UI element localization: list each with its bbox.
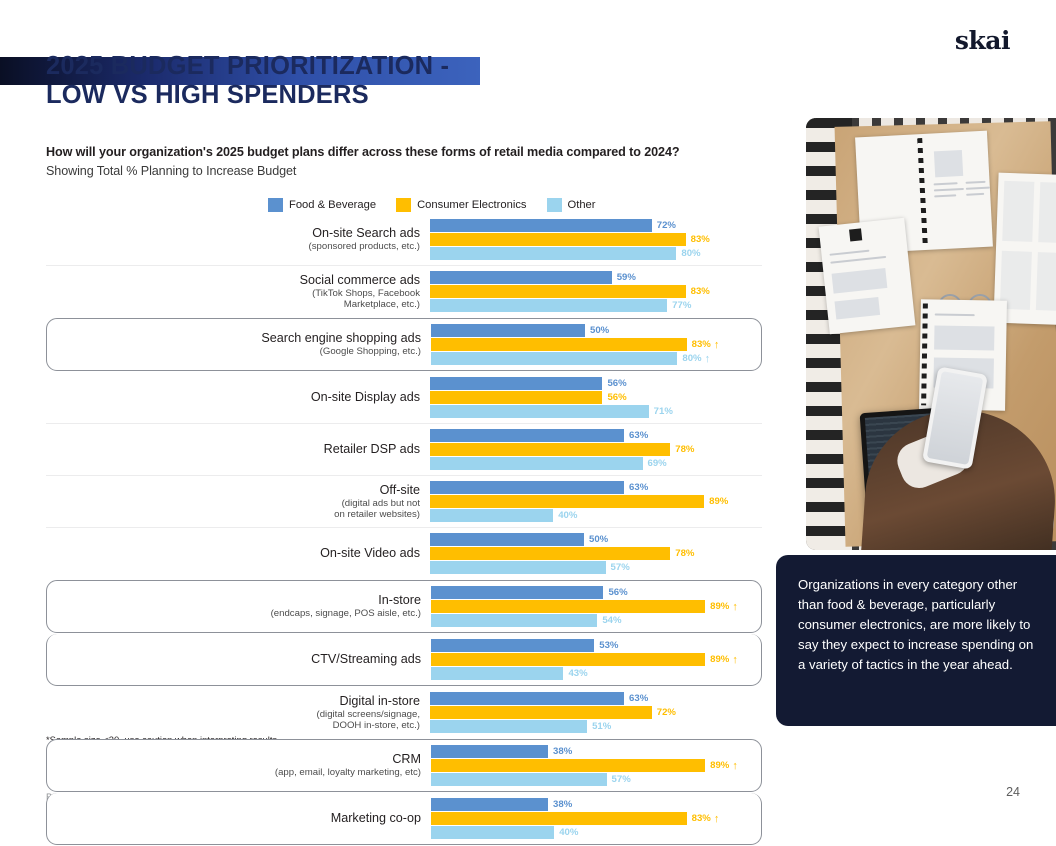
chart-bar <box>430 405 649 418</box>
chart-bar <box>430 533 584 546</box>
doc-block <box>934 325 994 350</box>
chart-bar <box>431 338 687 351</box>
chart-row-label: Search engine shopping ads(Google Shoppi… <box>47 331 431 357</box>
chart-bar <box>430 706 652 719</box>
chart-bar-value: 40% <box>558 510 577 521</box>
chart-bar <box>431 826 554 839</box>
chart-bar-value: 38% <box>553 799 572 810</box>
chart-row: Digital in-store(digital screens/signage… <box>46 687 762 738</box>
chart-bar-value: 69% <box>648 458 667 469</box>
chart-bar-group: 38% <box>431 745 761 758</box>
chart-bar-group: 69% <box>430 457 762 470</box>
chart-bar <box>430 443 670 456</box>
doc-line <box>934 188 964 192</box>
chart-bar-value: 56% <box>608 587 627 598</box>
chart-bar <box>430 720 587 733</box>
significance-arrow-icon: ↑ <box>714 813 720 825</box>
chart-bar-value: 89% <box>710 601 729 612</box>
chart-bar-group: 80%↑ <box>431 352 761 365</box>
chart-bar-group: 50% <box>430 533 762 546</box>
chart-row-label-main: On-site Video ads <box>46 546 420 561</box>
significance-arrow-icon: ↑ <box>732 654 738 666</box>
chart-row-label-main: In-store <box>47 593 421 608</box>
survey-question: How will your organization's 2025 budget… <box>46 145 679 159</box>
chart-bar-value: 72% <box>657 707 676 718</box>
chart-row-label-sub: (endcaps, signage, POS aisle, etc.) <box>47 608 421 619</box>
significance-arrow-icon: ↑ <box>732 760 738 772</box>
chart-bar-group: 53% <box>431 639 761 652</box>
chart-legend: Food & BeverageConsumer ElectronicsOther <box>268 198 596 212</box>
page-number: 24 <box>1006 785 1020 799</box>
chart-bar-value: 89% <box>710 654 729 665</box>
chart-row-label-main: Retailer DSP ads <box>46 442 420 457</box>
chart-row: Off-site(digital ads but not on retailer… <box>46 475 762 527</box>
chart-bar-group: 89%↑ <box>431 759 761 772</box>
chart-row-bars: 59%83%77% <box>430 269 762 314</box>
survey-subquestion: Showing Total % Planning to Increase Bud… <box>46 164 296 178</box>
chart-bar <box>430 271 612 284</box>
chart-bar-group: 56% <box>430 377 762 390</box>
chart-row-label: On-site Video ads <box>46 546 430 561</box>
chart-bar-group: 50% <box>431 324 761 337</box>
chart-bar <box>430 299 667 312</box>
legend-label: Other <box>568 199 596 211</box>
chart-row-label-sub: (sponsored products, etc.) <box>46 241 420 252</box>
chart-row-label: Marketing co-op <box>47 811 431 826</box>
chart-row-bars: 63%78%69% <box>430 427 762 472</box>
doc-line <box>966 193 984 196</box>
legend-label: Food & Beverage <box>289 199 376 211</box>
chart-row-label: CRM(app, email, loyalty marketing, etc) <box>47 752 431 778</box>
chart-row: On-site Display ads56%56%71% <box>46 372 762 423</box>
chart-bar <box>430 692 624 705</box>
chart-bar-group: 72% <box>430 219 762 232</box>
chart-bar <box>430 547 670 560</box>
spiral-binding <box>921 303 928 405</box>
chart-row: Marketing co-op38%83%↑40% <box>46 793 762 845</box>
doc-line <box>829 250 869 256</box>
chart-bar <box>430 391 602 404</box>
chart-bar-value: 83% <box>692 813 711 824</box>
chart-bar-group: 63% <box>430 429 762 442</box>
chart-bar <box>430 429 624 442</box>
doc-line <box>830 256 886 264</box>
chart-row-label-sub: (digital ads but not on retailer website… <box>46 498 420 521</box>
chart-bar <box>431 324 585 337</box>
chart-row: CRM(app, email, loyalty marketing, etc)3… <box>46 739 762 792</box>
chart-row-bars: 56%89%↑54% <box>431 584 761 629</box>
chart-bar-value: 50% <box>590 325 609 336</box>
chart-bar-group: 59% <box>430 271 762 284</box>
chart-bar-group: 83% <box>430 233 762 246</box>
chart-row-bars: 56%56%71% <box>430 375 762 420</box>
chart-bar-group: 77% <box>430 299 762 312</box>
chart-bar <box>431 667 563 680</box>
chart-bar-value: 56% <box>607 378 626 389</box>
chart-bar-value: 83% <box>691 234 710 245</box>
chart-row: Retailer DSP ads63%78%69% <box>46 423 762 475</box>
chart-row: Search engine shopping ads(Google Shoppi… <box>46 318 762 371</box>
chart-bar <box>431 600 705 613</box>
chart-bar-group: 38% <box>431 798 761 811</box>
doc-block <box>834 297 880 320</box>
legend-swatch-icon <box>547 198 562 212</box>
chart-bar-value: 56% <box>607 392 626 403</box>
chart-bar <box>430 285 686 298</box>
chart-bar-group: 51% <box>430 720 762 733</box>
chart-bar-group: 78% <box>430 547 762 560</box>
chart-row-label: Off-site(digital ads but not on retailer… <box>46 483 430 520</box>
chart-bar-value: 80% <box>681 248 700 259</box>
legend-swatch-icon <box>268 198 283 212</box>
chart-bar <box>431 773 607 786</box>
chart-row-label-sub: (digital screens/signage, DOOH in-store,… <box>46 709 420 732</box>
chart-bar-value: 63% <box>629 693 648 704</box>
chart-row-bars: 72%83%80% <box>430 217 762 262</box>
chart-bar <box>431 614 597 627</box>
chart-row-bars: 38%89%↑57% <box>431 743 761 788</box>
chart-row-label-main: On-site Search ads <box>46 226 420 241</box>
chart-row-label-sub: (TikTok Shops, Facebook Marketplace, etc… <box>46 288 420 311</box>
chart-bar-value: 80% <box>682 353 701 364</box>
chart-bar-group: 72% <box>430 706 762 719</box>
chart-bar <box>430 495 704 508</box>
chart-row-label: Social commerce ads(TikTok Shops, Facebo… <box>46 273 430 310</box>
chart-bar-value: 40% <box>559 827 578 838</box>
desk-documents-photo <box>806 118 1056 550</box>
chart-bar-group: 83% <box>430 285 762 298</box>
legend-label: Consumer Electronics <box>417 199 526 211</box>
chart-row-label-main: Search engine shopping ads <box>47 331 421 346</box>
page-title: 2025 BUDGET PRIORITIZATION - LOW VS HIGH… <box>46 52 449 109</box>
legend-item-food-beverage: Food & Beverage <box>268 198 376 212</box>
chart-row: Social commerce ads(TikTok Shops, Facebo… <box>46 265 762 317</box>
doc-image-block <box>934 150 963 177</box>
chart-bar <box>430 219 652 232</box>
chart-row-bars: 63%89%40% <box>430 479 762 524</box>
chart-bar-group: 89%↑ <box>431 653 761 666</box>
chart-bar-group: 89%↑ <box>431 600 761 613</box>
chart-row-label-main: Marketing co-op <box>47 811 421 826</box>
chart-bar-value: 59% <box>617 272 636 283</box>
chart-row-label-main: Off-site <box>46 483 420 498</box>
invoice-document <box>819 218 916 334</box>
chart-bar-value: 63% <box>629 482 648 493</box>
chart-row: CTV/Streaming ads53%89%↑43% <box>46 634 762 686</box>
chart-bar <box>430 561 606 574</box>
doc-block <box>832 268 888 294</box>
chart-row-bars: 63%72%51% <box>430 690 762 735</box>
chart-bar <box>431 759 705 772</box>
chart-row-bars: 50%83%↑80%↑ <box>431 322 761 367</box>
skai-logo: skai <box>955 26 1010 55</box>
chart-row-bars: 53%89%↑43% <box>431 637 761 682</box>
chart-row-label: CTV/Streaming ads <box>47 652 431 667</box>
chart-bar <box>431 586 603 599</box>
chart-bar-value: 77% <box>672 300 691 311</box>
chart-row-bars: 50%78%57% <box>430 531 762 576</box>
legend-item-other: Other <box>547 198 596 212</box>
chart-row: On-site Search ads(sponsored products, e… <box>46 214 762 265</box>
spiral-binding <box>917 138 928 246</box>
chart-bar <box>431 352 677 365</box>
chart-bar-group: 83%↑ <box>431 338 761 351</box>
chart-bar <box>431 745 548 758</box>
chart-bar-group: 63% <box>430 481 762 494</box>
chart-bar <box>431 812 687 825</box>
chart-row: In-store(endcaps, signage, POS aisle, et… <box>46 580 762 633</box>
chart-bar <box>430 233 686 246</box>
chart-row-bars: 38%83%↑40% <box>431 796 761 841</box>
chart-bar-value: 72% <box>657 220 676 231</box>
doc-line <box>966 187 990 190</box>
chart-bar-group: 89% <box>430 495 762 508</box>
chart-bar-group: 40% <box>431 826 761 839</box>
chart-bar-group: 63% <box>430 692 762 705</box>
chart-bar-group: 56% <box>430 391 762 404</box>
chart-bar <box>431 653 705 666</box>
chart-bar-value: 54% <box>602 615 621 626</box>
doc-line <box>934 194 956 197</box>
chart-row-label-main: CRM <box>47 752 421 767</box>
chart-row-label-main: Social commerce ads <box>46 273 420 288</box>
table-block <box>1002 181 1034 242</box>
chart-bar-value: 63% <box>629 430 648 441</box>
chart-bar-value: 78% <box>675 444 694 455</box>
chart-bar-group: 57% <box>430 561 762 574</box>
chart-bar-value: 83% <box>692 339 711 350</box>
chart-bar-group: 80% <box>430 247 762 260</box>
chart-bar-group: 71% <box>430 405 762 418</box>
chart-row-label-main: Digital in-store <box>46 694 420 709</box>
bar-chart: On-site Search ads(sponsored products, e… <box>46 214 762 846</box>
legend-item-consumer-electronics: Consumer Electronics <box>396 198 526 212</box>
chart-row-label-sub: (Google Shopping, etc.) <box>47 346 421 357</box>
doc-line <box>934 182 958 185</box>
chart-bar <box>431 639 594 652</box>
legend-swatch-icon <box>396 198 411 212</box>
chart-bar-value: 43% <box>568 668 587 679</box>
chart-bar-value: 53% <box>599 640 618 651</box>
chart-bar-group: 56% <box>431 586 761 599</box>
chart-bar-value: 38% <box>553 746 572 757</box>
chart-bar <box>431 798 548 811</box>
insight-callout: Organizations in every category other th… <box>776 555 1056 726</box>
chart-row-label: In-store(endcaps, signage, POS aisle, et… <box>47 593 431 619</box>
chart-row-label-main: On-site Display ads <box>46 390 420 405</box>
chart-bar-value: 83% <box>691 286 710 297</box>
chart-bar-group: 57% <box>431 773 761 786</box>
significance-arrow-icon: ↑ <box>732 601 738 613</box>
chart-row-label: On-site Search ads(sponsored products, e… <box>46 226 430 252</box>
chart-bar-value: 57% <box>612 774 631 785</box>
chart-bar-group: 43% <box>431 667 761 680</box>
chart-row-label: Retailer DSP ads <box>46 442 430 457</box>
chart-bar-group: 54% <box>431 614 761 627</box>
doc-line <box>966 181 986 184</box>
table-block <box>1036 252 1056 311</box>
chart-bar <box>430 481 624 494</box>
binder-clip <box>849 228 862 241</box>
chart-row-label: Digital in-store(digital screens/signage… <box>46 694 430 731</box>
chart-row-label: On-site Display ads <box>46 390 430 405</box>
table-block <box>1038 182 1056 243</box>
chart-bar <box>430 247 676 260</box>
chart-bar <box>430 457 643 470</box>
chart-row: On-site Video ads50%78%57% <box>46 527 762 579</box>
chart-row-label-sub: (app, email, loyalty marketing, etc) <box>47 767 421 778</box>
doc-line <box>935 314 975 317</box>
chart-bar-value: 89% <box>709 496 728 507</box>
chart-bar-value: 78% <box>675 548 694 559</box>
chart-bar-value: 57% <box>611 562 630 573</box>
chart-bar-value: 51% <box>592 721 611 732</box>
chart-bar-value: 89% <box>710 760 729 771</box>
chart-row-label-main: CTV/Streaming ads <box>47 652 421 667</box>
chart-bar <box>430 377 602 390</box>
significance-arrow-icon: ↑ <box>705 353 711 365</box>
chart-bar-value: 50% <box>589 534 608 545</box>
chart-bar-value: 71% <box>654 406 673 417</box>
chart-bar-group: 78% <box>430 443 762 456</box>
chart-bar-group: 40% <box>430 509 762 522</box>
chart-bar-group: 83%↑ <box>431 812 761 825</box>
chart-bar <box>430 509 553 522</box>
significance-arrow-icon: ↑ <box>714 339 720 351</box>
